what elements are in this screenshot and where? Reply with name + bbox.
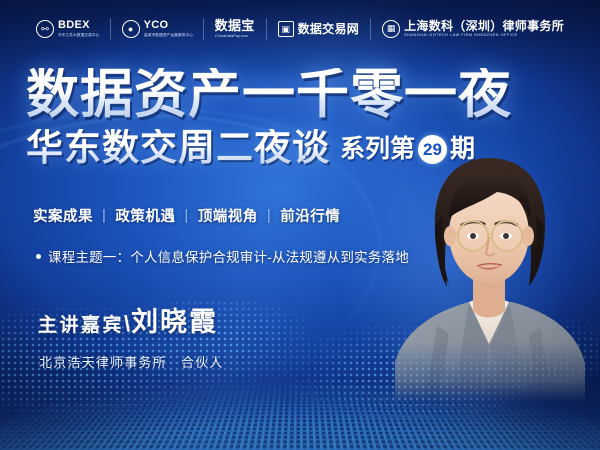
logo-shujubao[interactable]: 数据宝 ChinaDataPay.com — [204, 19, 266, 38]
speaker-name: 刘晓霞 — [131, 300, 218, 339]
yco-drop-icon: ● — [122, 20, 140, 38]
course-topic: 课程主题一：个人信息保护合规审计-从法规遵从到实务落地 — [36, 246, 409, 266]
logo-yco-name: YCO — [144, 20, 192, 31]
logo-bdex[interactable]: ⚯ BDEX 华东江苏大数据交易中心 — [25, 20, 110, 38]
logo-dgtech-law[interactable]: ▦ 上海数科（深圳）律师事务所 SHANGHAI DGTECH LAW FIRM… — [371, 20, 575, 38]
tag-separator-1: | — [184, 207, 188, 224]
issue-number-badge: 29 — [418, 135, 447, 164]
tag-separator-2: | — [267, 207, 271, 224]
tag-separator-0: | — [102, 207, 106, 224]
logo-dgtech-law-subtitle: SHANGHAI DGTECH LAW FIRM SHENZHEN OFFICE — [404, 34, 567, 38]
course-topic-text: 课程主题一：个人信息保护合规审计-从法规遵从到实务落地 — [48, 246, 409, 266]
logo-shujubao-subtitle: ChinaDataPay.com — [215, 35, 256, 39]
event-poster: ⚯ BDEX 华东江苏大数据交易中心 ● YCO 盐城市数据资产运营服务中心 数… — [0, 0, 600, 450]
logo-data-exchange[interactable]: ▣ 数据交易网 — [267, 21, 371, 37]
speaker-label: 主讲嘉宾 — [38, 310, 124, 337]
logo-yco-subtitle: 盐城市数据资产运营服务中心 — [144, 34, 193, 38]
poster-title: 数据资产一千零一夜 — [26, 68, 512, 121]
bullet-icon — [36, 254, 41, 259]
feature-tag-1: 政策机遇 — [115, 205, 175, 226]
logo-yco[interactable]: ● YCO 盐城市数据资产运营服务中心 — [111, 20, 203, 38]
speaker-portrait — [377, 130, 592, 402]
logo-bdex-name: BDEX — [58, 20, 99, 31]
feature-tag-3: 前沿行情 — [280, 205, 340, 226]
feature-tags: 实案成果 | 政策机遇 | 顶端视角 | 前沿行情 — [33, 205, 340, 226]
partner-logo-bar: ⚯ BDEX 华东江苏大数据交易中心 ● YCO 盐城市数据资产运营服务中心 数… — [0, 0, 600, 58]
feature-tag-2: 顶端视角 — [198, 205, 258, 226]
bdex-swirl-icon: ⚯ — [36, 20, 54, 38]
headline-block: 数据资产一千零一夜 华东数交周二夜谈 系列第 29 期 — [26, 68, 512, 166]
series-label: 系列第 29 期 — [340, 135, 475, 166]
dgtech-law-icon: ▦ — [382, 20, 400, 38]
speaker-separator: \ — [124, 311, 130, 337]
series-suffix: 期 — [450, 137, 475, 162]
logo-bdex-subtitle: 华东江苏大数据交易中心 — [58, 34, 99, 38]
poster-subtitle-row: 华东数交周二夜谈 系列第 29 期 — [26, 129, 512, 166]
series-prefix: 系列第 — [340, 137, 415, 162]
speaker-portrait-illustration — [377, 130, 592, 402]
logo-dgtech-law-name: 上海数科（深圳）律师事务所 — [404, 20, 564, 32]
poster-subtitle: 华东数交周二夜谈 — [26, 129, 330, 166]
logo-shujubao-name: 数据宝 — [215, 19, 255, 32]
speaker-organization: 北京浩天律师事务所 合伙人 — [39, 352, 224, 371]
data-exchange-icon: ▣ — [278, 21, 294, 37]
logo-data-exchange-name: 数据交易网 — [298, 23, 360, 35]
speaker-block: 主讲嘉宾 \ 刘晓霞 — [38, 300, 218, 339]
feature-tag-0: 实案成果 — [33, 205, 93, 226]
